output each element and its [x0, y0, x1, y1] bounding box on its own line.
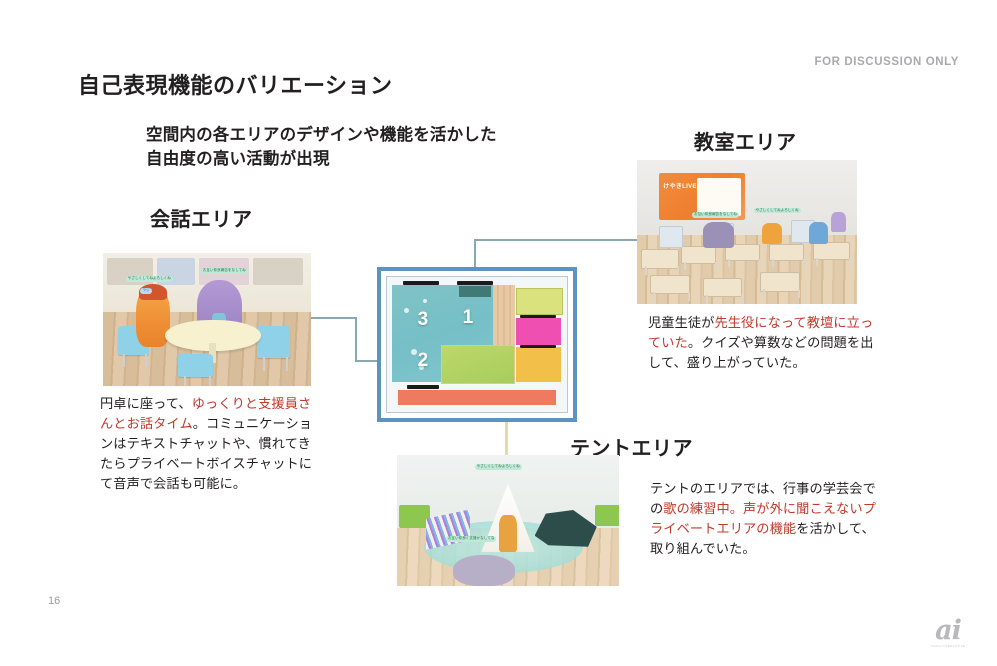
map-wall-bar [403, 281, 439, 285]
chat-bubble: ラジ [140, 288, 151, 294]
green-block [595, 505, 619, 526]
caption-seg: 児童生徒が [648, 315, 714, 330]
chat-bubble: お互い仲良報告をなしてね [201, 268, 248, 274]
caption-seg: 円卓に座って、 [100, 396, 192, 411]
map-dot [411, 349, 417, 355]
classroom-scene: けやきLIVE お互い仲良報告をなしてね やさしくしてねよろしくね [637, 160, 857, 304]
logo-subtext: ASAHI INTERACTIVE [921, 644, 975, 648]
map-zone-label-3: 3 [418, 309, 429, 331]
chat-bubble: やさしくしてねよろしくね [126, 276, 173, 282]
chair [178, 354, 213, 377]
connector-conversation-h1 [311, 317, 357, 319]
map-zone-entrance [398, 390, 556, 405]
logo-mark: ai [921, 618, 975, 644]
avatar-student [809, 222, 829, 244]
caption-conversation-area: 円卓に座って、ゆっくりと支援員さんとお話タイム。コミュニケーションはテキストチャ… [100, 394, 322, 494]
avatar-in-tent [499, 515, 517, 552]
disclaimer-label: FOR DISCUSSION ONLY [814, 56, 959, 68]
page-title: 自己表現機能のバリエーション [78, 68, 393, 100]
lead-text: 空間内の各エリアのデザインや機能を活かした 自由度の高い活動が出現 [146, 124, 497, 172]
desk [641, 249, 678, 268]
lead-line-1: 空間内の各エリアのデザインや機能を活かした [146, 124, 497, 148]
shelf-far [253, 258, 303, 285]
map-zone-label-2: 2 [418, 350, 429, 372]
map-dot [404, 308, 409, 313]
map-body: 3 1 2 [386, 276, 568, 413]
avatar-foreground [453, 555, 515, 586]
slide-canvas: FOR DISCUSSION ONLY 自己表現機能のバリエーション 空間内の各… [0, 0, 997, 666]
map-frame: 3 1 2 [377, 267, 577, 422]
desk [769, 244, 804, 262]
lead-line-2: 自由度の高い活動が出現 [146, 148, 497, 172]
avatar-student [831, 212, 846, 232]
chat-bubble: やさしくしてねよろしくね [475, 464, 522, 470]
avatar-fox [136, 286, 169, 347]
connector-classroom-h [474, 239, 639, 241]
conversation-scene: やさしくしてねよろしくね お互い仲良報告をなしてね ラジ [103, 253, 311, 386]
map-dot [423, 299, 427, 303]
brand-logo: ai ASAHI INTERACTIVE [921, 618, 975, 652]
map-zone-classroom [516, 288, 563, 316]
avatar-student [703, 222, 734, 248]
chat-bubble: お互い仲良報告をなしてね [692, 212, 739, 218]
connector-conversation-h2 [355, 360, 379, 362]
caption-classroom-area: 児童生徒が先生役になって教壇に立っていた。クイズや算数などの問題を出して、盛り上… [648, 313, 880, 373]
map-wall-bar [520, 315, 556, 318]
map-zone-pink-room [516, 318, 561, 345]
desk [650, 275, 689, 294]
desk [813, 242, 850, 260]
space-overview-map: 3 1 2 [377, 267, 577, 422]
desk [681, 246, 716, 264]
chat-bubble: やさしくしてねよろしくね [754, 208, 801, 214]
map-wall-bar [457, 281, 493, 285]
banner-title: けやきLIVE [663, 181, 696, 190]
map-zone-label-1: 1 [463, 307, 474, 329]
tent-scene: やさしくしてねよろしくね お互い仲良く支援かなしてな [397, 455, 619, 586]
desk [703, 278, 742, 297]
page-number: 16 [48, 595, 60, 607]
photo-classroom-area: けやきLIVE お互い仲良報告をなしてね やさしくしてねよろしくね [637, 160, 857, 304]
map-zone-tent-area [441, 345, 515, 385]
heading-classroom-area: 教室エリア [694, 126, 797, 155]
connector-conversation-v [355, 317, 357, 362]
caption-tent-area: テントのエリアでは、行事の学芸会での歌の練習中。声が外に聞こえないプライベートエ… [650, 479, 888, 559]
map-wall-bar [520, 345, 556, 348]
heading-conversation-area: 会話エリア [150, 203, 253, 232]
avatar-student [762, 223, 782, 243]
photo-tent-area: やさしくしてねよろしくね お互い仲良く支援かなしてな [397, 455, 619, 586]
photo-conversation-area: やさしくしてねよろしくね お互い仲良報告をなしてね ラジ [103, 253, 311, 386]
connector-classroom-v [474, 239, 476, 269]
map-wall-bar [407, 385, 439, 389]
round-table [165, 320, 261, 352]
banner-card [697, 178, 742, 216]
chat-bubble: お互い仲良く支援かなしてな [446, 536, 497, 542]
chair [257, 326, 290, 358]
classroom-chair [659, 226, 683, 248]
map-stage [459, 286, 491, 297]
map-zone-orange-room [516, 347, 561, 382]
desk [760, 272, 799, 291]
